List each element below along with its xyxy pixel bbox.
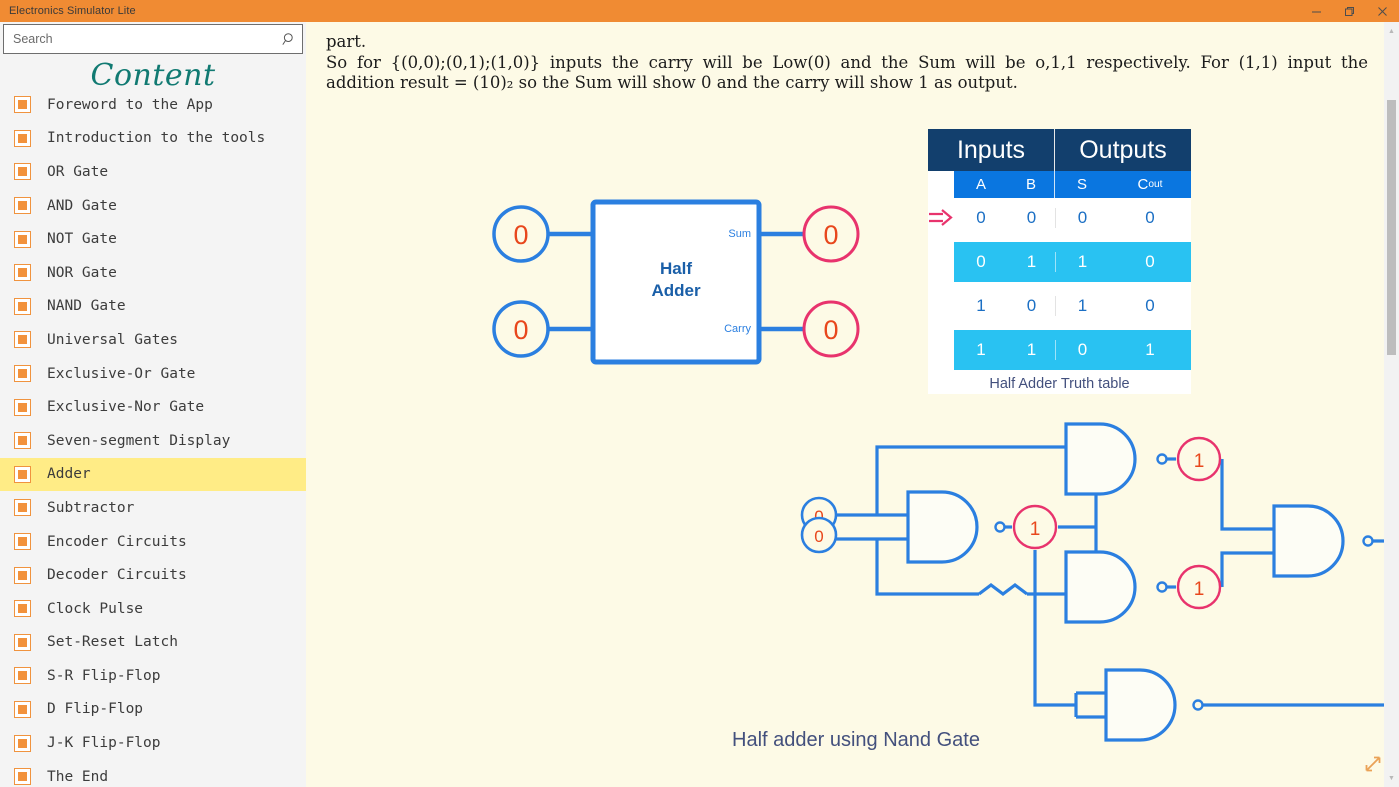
resize-diagonal-icon[interactable] xyxy=(1363,754,1383,779)
chapter-square-icon xyxy=(14,163,31,180)
truth-table-cell-a: 0 xyxy=(954,208,1008,228)
sidebar-item-label: J-K Flip-Flop xyxy=(47,735,161,751)
truth-table-cell-b: 1 xyxy=(1008,252,1055,272)
sidebar-item-label: OR Gate xyxy=(47,164,108,180)
sidebar-item-seven-segment-display[interactable]: Seven-segment Display xyxy=(0,424,306,458)
lesson-paragraph: part. So for {(0,0);(0,1);(1,0)} inputs … xyxy=(326,32,1368,94)
window-title: Electronics Simulator Lite xyxy=(0,5,136,17)
paragraph-line-3: addition result = (10)₂ so the Sum will … xyxy=(326,73,1368,94)
content-nav-list[interactable]: Foreword to the AppIntroduction to the t… xyxy=(0,96,306,787)
sidebar-item-introduction-to-the-tools[interactable]: Introduction to the tools xyxy=(0,122,306,156)
scroll-down-arrow-icon[interactable]: ▼ xyxy=(1384,771,1399,785)
truth-table-row: 0110 xyxy=(928,242,1191,282)
minimize-icon xyxy=(1311,6,1322,17)
sidebar-item-s-r-flip-flop[interactable]: S-R Flip-Flop xyxy=(0,659,306,693)
chapter-square-icon xyxy=(14,567,31,584)
half-adder-title-line1: Half xyxy=(660,259,692,278)
title-bar: Electronics Simulator Lite xyxy=(0,0,1399,22)
app-window: Electronics Simulator Lite xyxy=(0,0,1399,787)
sidebar-item-decoder-circuits[interactable]: Decoder Circuits xyxy=(0,558,306,592)
truth-table-row: 0000 xyxy=(928,198,1191,238)
group-header-outputs: Outputs xyxy=(1055,129,1191,171)
circuit-node-nand2-value: 1 xyxy=(1194,451,1205,472)
output-node-carry-value: 0 xyxy=(823,315,838,345)
wire-a-to-n2 xyxy=(877,447,1066,515)
truth-table-cell-s: 1 xyxy=(1055,296,1109,316)
nand-gate-4 xyxy=(1274,506,1373,576)
truth-table-row-band: 0110 xyxy=(954,242,1191,282)
window-controls xyxy=(1300,0,1399,22)
minimize-button[interactable] xyxy=(1300,0,1333,22)
column-header-cout: Cout xyxy=(1109,171,1191,198)
sum-port-label: Sum xyxy=(728,228,751,240)
truth-table-cell-cout: 0 xyxy=(1109,252,1191,272)
truth-table-cell-b: 0 xyxy=(1008,208,1055,228)
truth-table-row: 1101 xyxy=(928,330,1191,370)
truth-table-row-band: 1010 xyxy=(954,286,1191,326)
sidebar-item-j-k-flip-flop[interactable]: J-K Flip-Flop xyxy=(0,726,306,760)
chapter-square-icon xyxy=(14,600,31,617)
truth-table-cell-a: 1 xyxy=(954,296,1008,316)
chapter-square-icon xyxy=(14,399,31,416)
chapter-square-icon xyxy=(14,96,31,113)
group-header-inputs: Inputs xyxy=(928,129,1055,171)
nand-gate-1 xyxy=(908,492,1005,562)
truth-table-cell-a: 0 xyxy=(954,252,1008,272)
search-box[interactable] xyxy=(3,24,303,54)
nand-5-bubble xyxy=(1194,701,1203,710)
input-node-a-value: 0 xyxy=(513,220,528,250)
nand-gate-2 xyxy=(1066,424,1167,494)
sidebar-item-not-gate[interactable]: NOT Gate xyxy=(0,222,306,256)
column-header-s: S xyxy=(1055,171,1109,198)
half-adder-title-line2: Adder xyxy=(651,281,701,300)
truth-table-cell-cout: 0 xyxy=(1109,296,1191,316)
restore-icon xyxy=(1344,6,1355,17)
sidebar-item-label: AND Gate xyxy=(47,198,117,214)
vertical-scrollbar[interactable]: ▲ ▼ xyxy=(1384,22,1399,787)
carry-port-label: Carry xyxy=(724,323,751,335)
circuit-node-nand1-value: 1 xyxy=(1030,519,1041,540)
sidebar-item-the-end[interactable]: The End xyxy=(0,760,306,787)
search-icon[interactable] xyxy=(276,32,302,47)
chapter-square-icon xyxy=(14,533,31,550)
half-adder-truth-table: Inputs Outputs A B S Cout 00000110101011… xyxy=(928,129,1191,394)
content-heading: Content xyxy=(0,58,306,96)
sidebar: Content Foreword to the AppIntroduction … xyxy=(0,22,306,787)
truth-table-cell-b: 1 xyxy=(1008,340,1055,360)
sidebar-item-label: Exclusive-Or Gate xyxy=(47,366,195,382)
scrollbar-thumb[interactable] xyxy=(1387,100,1396,355)
sidebar-item-subtractor[interactable]: Subtractor xyxy=(0,491,306,525)
sidebar-item-foreword-to-the-app[interactable]: Foreword to the App xyxy=(0,96,306,122)
truth-table-cell-s: 0 xyxy=(1055,208,1109,228)
sidebar-item-label: Foreword to the App xyxy=(47,97,213,113)
sidebar-item-universal-gates[interactable]: Universal Gates xyxy=(0,323,306,357)
truth-table-row: 1010 xyxy=(928,286,1191,326)
nand-4-bubble xyxy=(1364,537,1373,546)
wire-node3-to-n4 xyxy=(1222,553,1274,587)
current-row-arrow-icon xyxy=(928,209,954,227)
sidebar-item-exclusive-or-gate[interactable]: Exclusive-Or Gate xyxy=(0,357,306,391)
chapter-square-icon xyxy=(14,735,31,752)
truth-table-cell-cout: 0 xyxy=(1109,208,1191,228)
sidebar-item-label: Encoder Circuits xyxy=(47,534,187,550)
chapter-square-icon xyxy=(14,466,31,483)
chapter-square-icon xyxy=(14,768,31,785)
sidebar-item-encoder-circuits[interactable]: Encoder Circuits xyxy=(0,525,306,559)
chapter-square-icon xyxy=(14,264,31,281)
chapter-square-icon xyxy=(14,701,31,718)
close-icon xyxy=(1377,6,1388,17)
chapter-square-icon xyxy=(14,432,31,449)
sidebar-item-label: Decoder Circuits xyxy=(47,567,187,583)
truth-table-column-header-row: A B S Cout xyxy=(954,171,1191,198)
magnifier-glyph xyxy=(282,32,297,47)
sidebar-item-label: S-R Flip-Flop xyxy=(47,668,161,684)
chapter-square-icon xyxy=(14,634,31,651)
input-node-b-value: 0 xyxy=(513,315,528,345)
close-button[interactable] xyxy=(1366,0,1399,22)
sidebar-item-clock-pulse[interactable]: Clock Pulse xyxy=(0,592,306,626)
output-node-sum-value: 0 xyxy=(823,220,838,250)
truth-table-row-band: 0000 xyxy=(954,198,1191,238)
truth-table-cell-s: 0 xyxy=(1055,340,1109,360)
nand-2-bubble xyxy=(1158,455,1167,464)
sidebar-item-label: Introduction to the tools xyxy=(47,130,265,146)
sidebar-item-adder[interactable]: Adder xyxy=(0,458,306,492)
truth-table-body: 0000011010101101 xyxy=(928,198,1191,370)
sidebar-item-label: Subtractor xyxy=(47,500,134,516)
nand-gate-5 xyxy=(1106,670,1203,740)
truth-table-caption: Half Adder Truth table xyxy=(928,370,1191,392)
sidebar-item-nand-gate[interactable]: NAND Gate xyxy=(0,290,306,324)
sidebar-item-or-gate[interactable]: OR Gate xyxy=(0,155,306,189)
nand-1-bubble xyxy=(996,523,1005,532)
sidebar-item-label: NAND Gate xyxy=(47,298,126,314)
sidebar-item-label: Seven-segment Display xyxy=(47,433,230,449)
scroll-up-arrow-icon[interactable]: ▲ xyxy=(1384,24,1399,38)
truth-table-cell-s: 1 xyxy=(1055,252,1109,272)
sidebar-item-label: NOT Gate xyxy=(47,231,117,247)
sidebar-item-label: Clock Pulse xyxy=(47,601,143,617)
half-adder-block-diagram: Half Adder Sum Carry 0 0 0 0 xyxy=(492,177,872,372)
sidebar-item-label: Adder xyxy=(47,466,91,482)
nand-gate-3 xyxy=(1066,552,1167,622)
nand-half-adder-circuit: 0 0 1 1 1 0 0 xyxy=(466,412,1399,747)
wire-node2-to-n4 xyxy=(1222,459,1274,529)
sidebar-item-and-gate[interactable]: AND Gate xyxy=(0,189,306,223)
truth-table-cell-a: 1 xyxy=(954,340,1008,360)
paragraph-line-1: part. xyxy=(326,32,1368,53)
sidebar-item-label: The End xyxy=(47,769,108,785)
column-header-a: A xyxy=(954,171,1008,198)
chapter-square-icon xyxy=(14,197,31,214)
sidebar-item-label: Set-Reset Latch xyxy=(47,634,178,650)
sidebar-item-d-flip-flop[interactable]: D Flip-Flop xyxy=(0,693,306,727)
column-header-b: B xyxy=(1008,171,1055,198)
chapter-square-icon xyxy=(14,231,31,248)
sidebar-item-set-reset-latch[interactable]: Set-Reset Latch xyxy=(0,626,306,660)
chapter-square-icon xyxy=(14,365,31,382)
chapter-square-icon xyxy=(14,499,31,516)
truth-table-cell-cout: 1 xyxy=(1109,340,1191,360)
main-content: part. So for {(0,0);(0,1);(1,0)} inputs … xyxy=(306,22,1399,787)
truth-table-cell-b: 0 xyxy=(1008,296,1055,316)
chapter-square-icon xyxy=(14,298,31,315)
circuit-input-b-value: 0 xyxy=(814,527,823,546)
sidebar-item-nor-gate[interactable]: NOR Gate xyxy=(0,256,306,290)
nand-3-bubble xyxy=(1158,583,1167,592)
truth-table-group-header-row: Inputs Outputs xyxy=(928,129,1191,171)
sidebar-item-label: Universal Gates xyxy=(47,332,178,348)
wire-hop xyxy=(979,585,1027,594)
chapter-square-icon xyxy=(14,331,31,348)
sidebar-item-exclusive-nor-gate[interactable]: Exclusive-Nor Gate xyxy=(0,390,306,424)
circuit-node-nand3-value: 1 xyxy=(1194,579,1205,600)
sidebar-item-label: NOR Gate xyxy=(47,265,117,281)
chapter-square-icon xyxy=(14,130,31,147)
search-input[interactable] xyxy=(4,32,276,46)
paragraph-line-2: So for {(0,0);(0,1);(1,0)} inputs the ca… xyxy=(326,53,1368,74)
restore-button[interactable] xyxy=(1333,0,1366,22)
chapter-square-icon xyxy=(14,667,31,684)
nand-circuit-caption: Half adder using Nand Gate xyxy=(636,729,1076,752)
truth-table-row-band: 1101 xyxy=(954,330,1191,370)
sidebar-item-label: D Flip-Flop xyxy=(47,701,143,717)
sidebar-item-label: Exclusive-Nor Gate xyxy=(47,399,204,415)
